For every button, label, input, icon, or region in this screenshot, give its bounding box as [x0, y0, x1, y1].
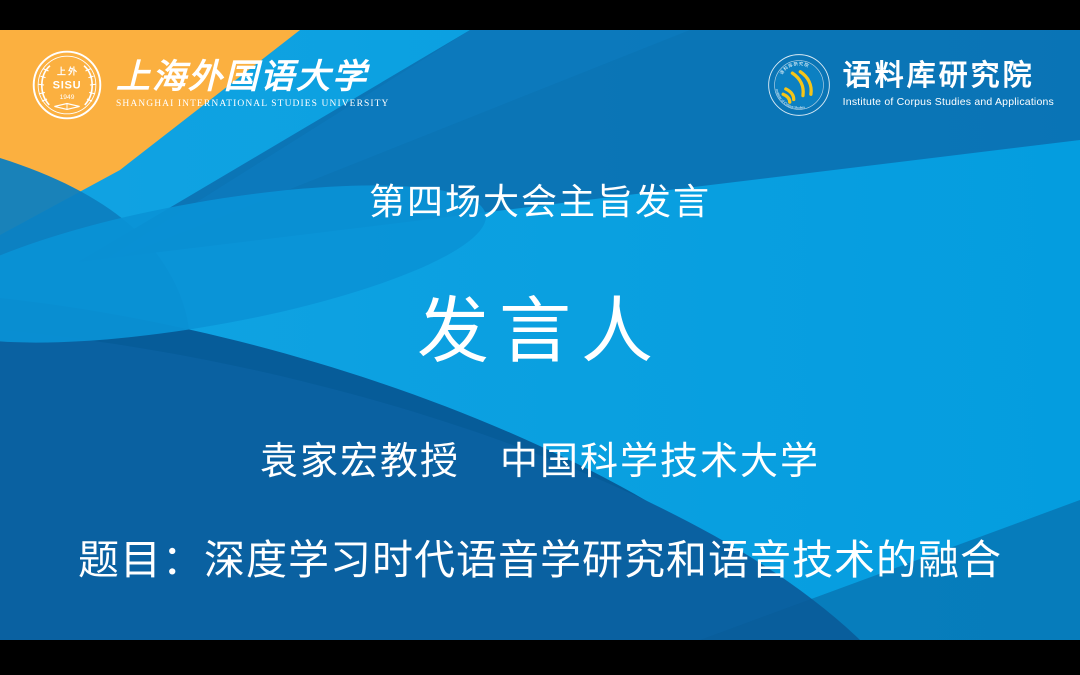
- sisu-seal-icon: 上 外 SISU 1949: [30, 48, 104, 122]
- svg-text:上 外: 上 外: [57, 66, 77, 77]
- slide-stage: 上 外 SISU 1949 上海外国语大学 SHANGHAI INTERNATI…: [0, 0, 1080, 675]
- corpus-institute-name-en: Institute of Corpus Studies and Applicat…: [843, 96, 1054, 108]
- sisu-name-cn: 上海外国语大学: [116, 61, 390, 95]
- sisu-name-en: SHANGHAI INTERNATIONAL STUDIES UNIVERSIT…: [116, 99, 390, 109]
- letterbox-bottom: [0, 640, 1080, 675]
- sisu-logo: 上 外 SISU 1949 上海外国语大学 SHANGHAI INTERNATI…: [30, 48, 390, 122]
- corpus-institute-name-cn: 语料库研究院: [843, 62, 1054, 91]
- speaker-heading: 发言人: [0, 272, 1080, 377]
- corpus-institute-emblem-icon: 语料库研究院 Institute of Corpus Studies: [766, 52, 832, 118]
- corpus-institute-logo: 语料库研究院 Institute of Corpus Studies 语料库研究…: [766, 52, 1054, 118]
- talk-title: 题目：深度学习时代语音学研究和语音技术的融合: [0, 526, 1080, 586]
- letterbox-top: [0, 0, 1080, 30]
- presentation-slide: 上 外 SISU 1949 上海外国语大学 SHANGHAI INTERNATI…: [0, 30, 1080, 640]
- speaker-name: 袁家宏教授 中国科学技术大学: [0, 430, 1080, 485]
- session-title: 第四场大会主旨发言: [0, 173, 1080, 225]
- svg-text:1949: 1949: [60, 94, 75, 101]
- svg-text:SISU: SISU: [53, 80, 82, 92]
